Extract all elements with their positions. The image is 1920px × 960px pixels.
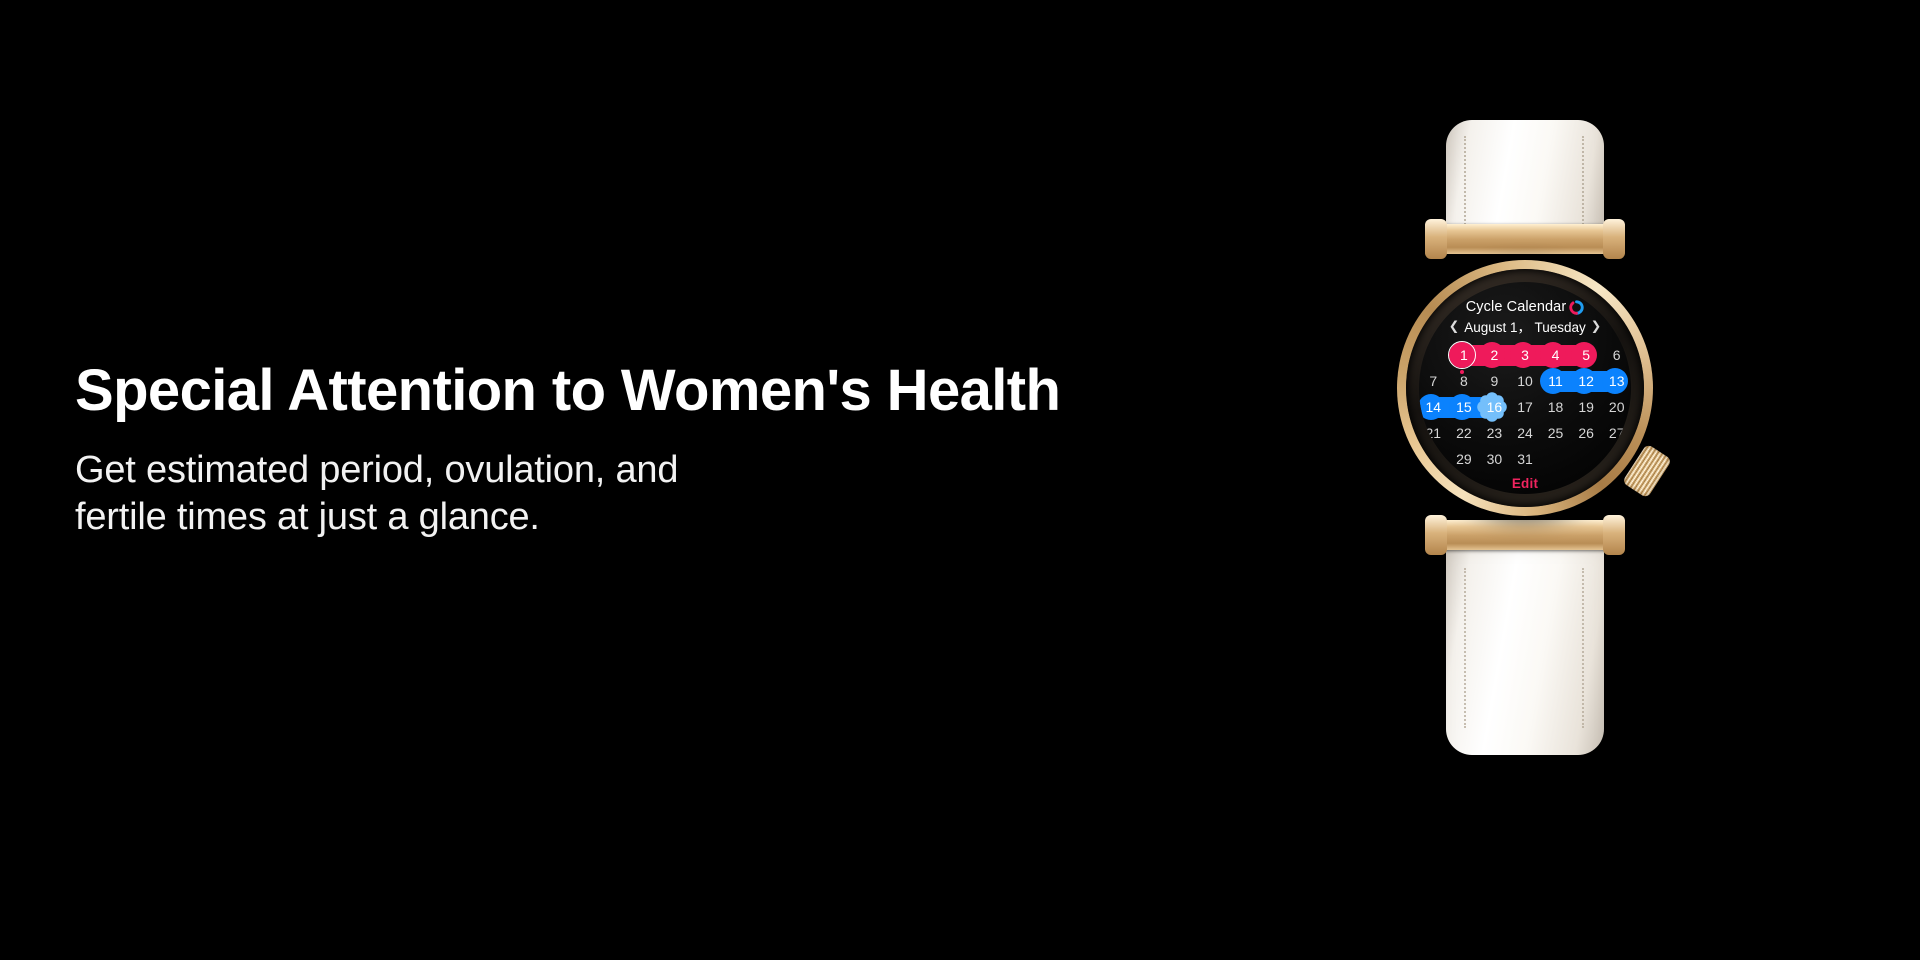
calendar-day-6[interactable]: 6 bbox=[1601, 342, 1631, 368]
calendar-day-25[interactable]: 25 bbox=[1540, 420, 1571, 446]
next-day-button[interactable]: ❯ bbox=[1591, 320, 1601, 333]
calendar-day-29[interactable]: 29 bbox=[1449, 446, 1480, 472]
lug-cap-right-icon bbox=[1603, 219, 1625, 259]
subtitle-line-1: Get estimated period, ovulation, and bbox=[75, 447, 1225, 493]
hero-copy-block: Special Attention to Women's Health Get … bbox=[75, 360, 1225, 540]
calendar-day-28[interactable]: 28 bbox=[1419, 446, 1449, 472]
page-title: Special Attention to Women's Health bbox=[75, 360, 1225, 421]
cycle-ring-icon bbox=[1569, 300, 1584, 315]
lug-cap-right-icon bbox=[1603, 515, 1625, 555]
calendar-day-15[interactable]: 15 bbox=[1449, 394, 1480, 420]
calendar-week-row: 28 29 30 31 bbox=[1419, 446, 1631, 472]
watch-bezel: Cycle Calendar ❮ August 1， Tuesday ❯ bbox=[1406, 269, 1644, 507]
calendar-day-18[interactable]: 18 bbox=[1540, 394, 1571, 420]
calendar-day-10[interactable]: 10 bbox=[1510, 368, 1541, 394]
watch-strap-bottom bbox=[1446, 540, 1604, 755]
today-indicator-dot bbox=[1460, 370, 1464, 374]
calendar-day-2[interactable]: 2 bbox=[1479, 342, 1510, 368]
page-subtitle: Get estimated period, ovulation, and fer… bbox=[75, 447, 1225, 540]
watch-case: Cycle Calendar ❮ August 1， Tuesday ❯ bbox=[1397, 260, 1653, 516]
calendar-day-26[interactable]: 26 bbox=[1571, 420, 1602, 446]
calendar-day-5[interactable]: 5 bbox=[1571, 342, 1602, 368]
app-title: Cycle Calendar bbox=[1466, 299, 1567, 315]
lug-cap-left-icon bbox=[1425, 219, 1447, 259]
calendar-week-row: 1 2 3 4 5 6 bbox=[1419, 342, 1631, 368]
calendar-day-22[interactable]: 22 bbox=[1449, 420, 1480, 446]
subtitle-line-2: fertile times at just a glance. bbox=[75, 494, 1225, 540]
watch-screen[interactable]: Cycle Calendar ❮ August 1， Tuesday ❯ bbox=[1419, 282, 1631, 494]
lug-cap-left-icon bbox=[1425, 515, 1447, 555]
calendar-day-16[interactable]: 16 bbox=[1479, 394, 1510, 420]
calendar-day-14[interactable]: 14 bbox=[1419, 394, 1449, 420]
calendar-day-23[interactable]: 23 bbox=[1479, 420, 1510, 446]
calendar-day-19[interactable]: 19 bbox=[1571, 394, 1602, 420]
calendar-week-row: 7 8 9 10 11 12 13 bbox=[1419, 368, 1631, 394]
prev-day-button[interactable]: ❮ bbox=[1449, 320, 1459, 333]
smartwatch-product-image: Cycle Calendar ❮ August 1， Tuesday ❯ bbox=[1355, 120, 1695, 820]
calendar-grid: 1 2 3 4 5 6 7 bbox=[1419, 342, 1631, 472]
calendar-day-21[interactable]: 21 bbox=[1419, 420, 1449, 446]
calendar-week-row: 21 22 23 24 25 26 27 bbox=[1419, 420, 1631, 446]
calendar-week-row: 14 15 16 17 18 19 20 bbox=[1419, 394, 1631, 420]
app-title-row: Cycle Calendar bbox=[1466, 299, 1585, 315]
edit-button[interactable]: Edit bbox=[1512, 476, 1538, 491]
calendar-day-30[interactable]: 30 bbox=[1479, 446, 1510, 472]
calendar-day-24[interactable]: 24 bbox=[1510, 420, 1541, 446]
today-indicator-ring bbox=[1448, 341, 1476, 369]
calendar-day-4[interactable]: 4 bbox=[1540, 342, 1571, 368]
date-navigator: ❮ August 1， Tuesday ❯ bbox=[1449, 316, 1602, 336]
calendar-day-8[interactable]: 8 bbox=[1449, 368, 1480, 394]
calendar-day-3[interactable]: 3 bbox=[1510, 342, 1541, 368]
calendar-day-17[interactable]: 17 bbox=[1510, 394, 1541, 420]
cycle-calendar-app: Cycle Calendar ❮ August 1， Tuesday ❯ bbox=[1419, 282, 1631, 494]
calendar-day-7[interactable]: 7 bbox=[1419, 368, 1449, 394]
watch-lug-top bbox=[1427, 224, 1623, 254]
calendar-day-31[interactable]: 31 bbox=[1510, 446, 1541, 472]
calendar-day-9[interactable]: 9 bbox=[1479, 368, 1510, 394]
calendar-day-12[interactable]: 12 bbox=[1571, 368, 1602, 394]
current-date-label: August 1， Tuesday bbox=[1464, 316, 1586, 336]
watch-lug-bottom bbox=[1427, 520, 1623, 550]
calendar-day-20[interactable]: 20 bbox=[1601, 394, 1631, 420]
calendar-day-13[interactable]: 13 bbox=[1601, 368, 1631, 394]
calendar-day-27[interactable]: 27 bbox=[1601, 420, 1631, 446]
calendar-day-11[interactable]: 11 bbox=[1540, 368, 1571, 394]
